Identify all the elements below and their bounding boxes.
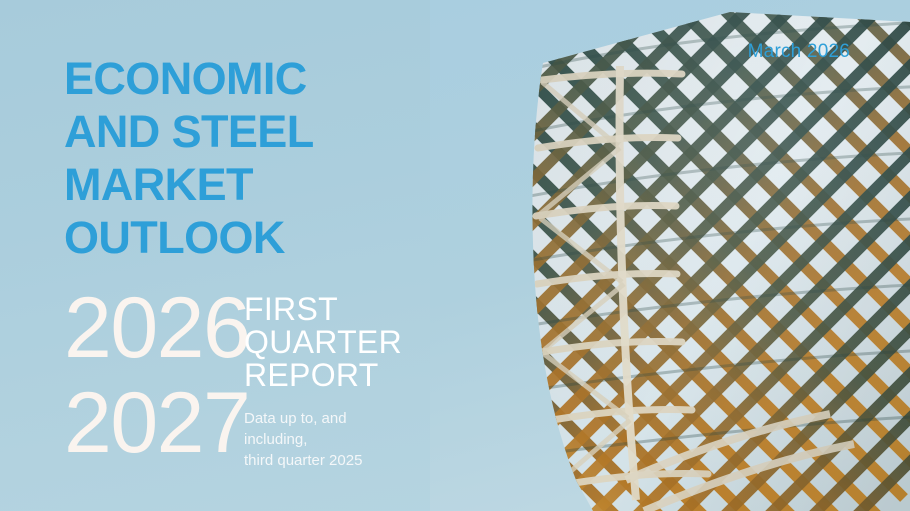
year-range: 2026 2027 <box>64 281 244 471</box>
title-line-4: OUTLOOK <box>64 211 424 264</box>
title-line-1: ECONOMIC <box>64 52 424 105</box>
year-start: 2026 <box>64 281 244 376</box>
date-stamp: March 2026 <box>748 41 850 63</box>
year-end: 2027 <box>64 376 244 471</box>
note-line-1: Data up to, and <box>244 408 464 429</box>
report-cover: March 2026 ECONOMIC AND STEEL MARKET OUT… <box>0 0 910 511</box>
data-coverage-note: Data up to, and including, third quarter… <box>244 408 464 471</box>
note-line-2: including, <box>244 429 464 450</box>
report-descriptor: FIRST QUARTER REPORT Data up to, and inc… <box>244 281 464 471</box>
report-title-line-1: FIRST <box>244 293 464 326</box>
page-title: ECONOMIC AND STEEL MARKET OUTLOOK <box>64 52 424 264</box>
title-line-2: AND STEEL <box>64 105 424 158</box>
steel-lattice-photograph <box>430 0 910 511</box>
lattice-illustration <box>430 0 910 511</box>
report-title-line-3: REPORT <box>244 359 464 392</box>
report-title-line-2: QUARTER <box>244 326 464 359</box>
note-line-3: third quarter 2025 <box>244 450 464 471</box>
cover-subtitle-block: 2026 2027 FIRST QUARTER REPORT Data up t… <box>64 281 464 471</box>
title-line-3: MARKET <box>64 158 424 211</box>
